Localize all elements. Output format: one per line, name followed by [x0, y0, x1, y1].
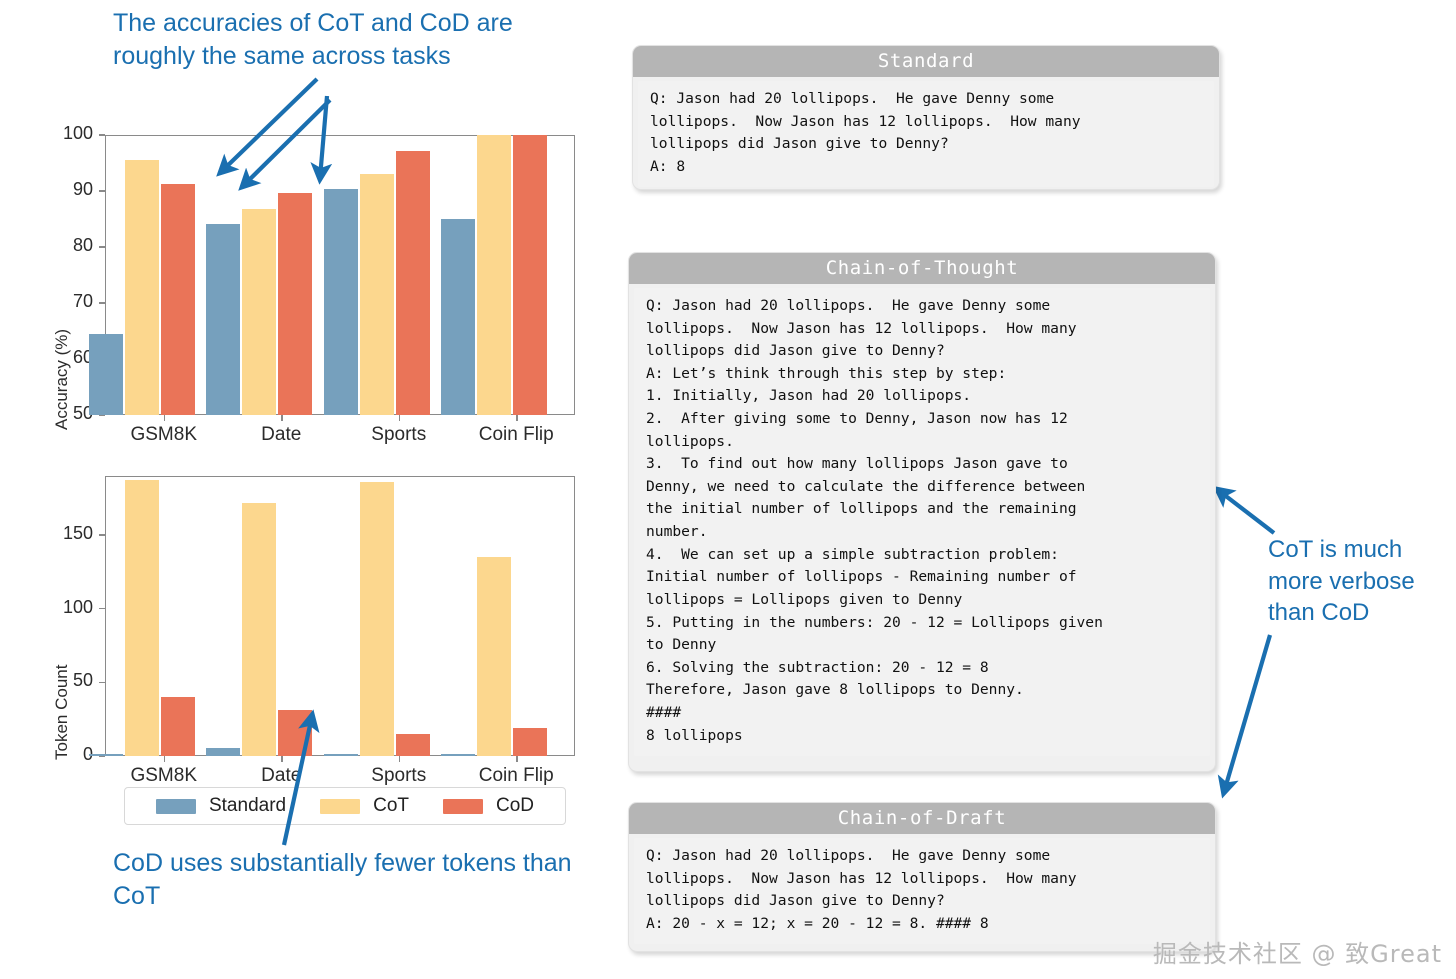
bar-cod-gsm8k — [161, 697, 195, 756]
annotation-accuracy-note: The accuracies of CoT and CoD are roughl… — [113, 7, 583, 73]
y-tick-mark — [99, 608, 105, 609]
bar-cod-sports — [396, 151, 430, 415]
y-tick-label: 150 — [37, 523, 93, 544]
legend-swatch-cot — [320, 799, 360, 814]
watermark: 掘金技术社区 @ 致Great — [1153, 934, 1442, 969]
card-chain-of-draft: Chain-of-Draft Q: Jason had 20 lollipops… — [628, 802, 1216, 952]
y-tick-mark — [99, 302, 105, 303]
y-tick-label: 70 — [37, 291, 93, 312]
annotation-verbosity-note: CoT is much more verbose than CoD — [1268, 534, 1456, 629]
bar-cod-coin-flip — [513, 135, 547, 415]
bar-cot-date — [242, 209, 276, 415]
card-chain-of-thought-body: Q: Jason had 20 lollipops. He gave Denny… — [634, 288, 1210, 756]
card-standard: Standard Q: Jason had 20 lollipops. He g… — [632, 45, 1220, 190]
card-chain-of-draft-title: Chain-of-Draft — [629, 803, 1215, 834]
y-tick-mark — [99, 534, 105, 535]
legend-item-cot[interactable]: CoT — [320, 795, 409, 817]
y-tick-mark — [99, 682, 105, 683]
bar-cot-coin-flip — [477, 135, 511, 415]
y-tick-label: 0 — [37, 744, 93, 765]
legend-label-cod: CoD — [496, 795, 534, 817]
y-tick-label: 50 — [37, 670, 93, 691]
bar-standard-gsm8k — [89, 334, 123, 415]
annotation-token-note: CoD uses substantially fewer tokens than… — [113, 847, 583, 913]
bar-cot-gsm8k — [125, 480, 159, 756]
legend-item-standard[interactable]: Standard — [156, 795, 286, 817]
bar-cod-date — [278, 710, 312, 756]
bar-cod-coin-flip — [513, 728, 547, 756]
bar-standard-sports — [324, 189, 358, 415]
y-tick-mark — [99, 134, 105, 135]
y-tick-label: 80 — [37, 235, 93, 256]
card-chain-of-thought: Chain-of-Thought Q: Jason had 20 lollipo… — [628, 252, 1216, 772]
legend-label-standard: Standard — [209, 795, 286, 817]
bar-cot-gsm8k — [125, 160, 159, 415]
bar-cot-sports — [360, 482, 394, 756]
card-standard-body: Q: Jason had 20 lollipops. He gave Denny… — [638, 81, 1214, 187]
x-tick-label-coin-flip: Coin Flip — [436, 424, 596, 446]
y-tick-label: 100 — [37, 597, 93, 618]
bar-cod-date — [278, 193, 312, 415]
y-tick-label: 100 — [37, 123, 93, 144]
y-tick-label: 90 — [37, 179, 93, 200]
bar-cot-sports — [360, 174, 394, 415]
x-tick-mark — [516, 756, 517, 762]
bar-standard-coin-flip — [441, 754, 475, 756]
card-chain-of-thought-title: Chain-of-Thought — [629, 253, 1215, 284]
x-tick-label-coin-flip: Coin Flip — [436, 765, 596, 787]
x-tick-mark — [516, 415, 517, 421]
token-count-bar-chart: Token Count 050100150GSM8KDateSportsCoin… — [0, 460, 600, 790]
legend-item-cod[interactable]: CoD — [443, 795, 534, 817]
bar-standard-coin-flip — [441, 219, 475, 415]
bar-standard-date — [206, 224, 240, 415]
legend-label-cot: CoT — [373, 795, 409, 817]
x-tick-mark — [399, 415, 400, 421]
y-tick-label: 50 — [37, 403, 93, 424]
accuracy-bar-chart: Accuracy (%) 5060708090100GSM8KDateSport… — [0, 110, 600, 460]
legend-swatch-cod — [443, 799, 483, 814]
y-tick-label: 60 — [37, 347, 93, 368]
bar-cot-coin-flip — [477, 557, 511, 756]
arrow-to-cod-card — [1224, 635, 1270, 792]
card-standard-title: Standard — [633, 46, 1219, 77]
x-tick-mark — [281, 415, 282, 421]
x-tick-mark — [399, 756, 400, 762]
bar-standard-gsm8k — [89, 754, 123, 756]
x-tick-mark — [281, 756, 282, 762]
chart-legend: Standard CoT CoD — [124, 787, 566, 825]
bar-cod-sports — [396, 734, 430, 756]
bar-cod-gsm8k — [161, 184, 195, 415]
bar-standard-sports — [324, 754, 358, 756]
arrow-to-cot-card — [1218, 490, 1274, 533]
bar-cot-date — [242, 503, 276, 756]
card-chain-of-draft-body: Q: Jason had 20 lollipops. He gave Denny… — [634, 838, 1210, 944]
y-tick-mark — [99, 190, 105, 191]
bar-standard-date — [206, 748, 240, 756]
x-tick-mark — [164, 415, 165, 421]
legend-swatch-standard — [156, 799, 196, 814]
y-tick-mark — [99, 246, 105, 247]
x-tick-mark — [164, 756, 165, 762]
